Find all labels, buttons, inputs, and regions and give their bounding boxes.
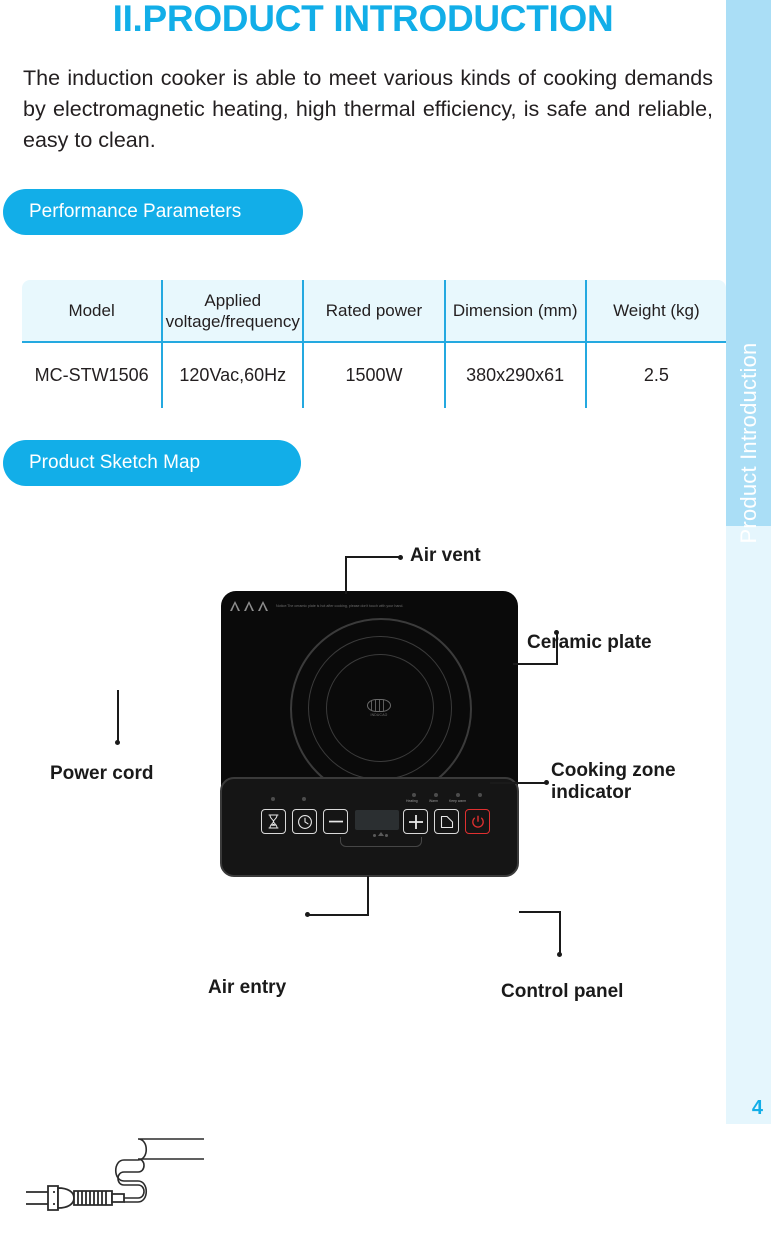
hourglass-glyph [267,814,280,829]
digital-display [355,810,399,830]
minus-button[interactable] [323,809,348,834]
cell-dimension: 380x290x61 [445,342,586,409]
leader-line-cooking-zone [490,782,547,784]
power-cord-illustration [14,1132,214,1242]
sidebar: Product Introduction 4 [726,0,771,1124]
callout-ceramic-plate: Ceramic plate [527,632,652,654]
leader-line-air-entry-horizontal [308,914,369,916]
leader-line-ceramic-horizontal [513,663,558,665]
leader-line-air-vent-horizontal [345,556,400,558]
power-glyph [471,815,485,829]
indicator-label-heating: Heating [406,799,418,803]
hourglass-icon[interactable] [261,809,286,834]
callout-air-vent: Air vent [410,545,481,567]
indicator-led [434,793,438,797]
slider-dot [385,834,388,837]
table-header-voltage: Applied voltage/frequency [162,279,303,342]
table-header-weight: Weight (kg) [586,279,727,342]
indicator-led [302,797,306,801]
warning-strip: Notice:The ceramic plate is hot after co… [230,599,480,613]
parameters-table: Model Applied voltage/frequency Rated po… [20,278,728,410]
leader-dot-air-vent [398,555,403,560]
power-icon[interactable] [465,809,490,834]
indicator-led [412,793,416,797]
indicator-led [271,797,275,801]
slider-caret-icon [378,832,384,836]
leader-dot-control-panel [557,952,562,957]
slider-dot [373,834,376,837]
indicator-led [478,793,482,797]
sidebar-section-label: Product Introduction [736,343,762,544]
callout-air-entry: Air entry [208,977,286,999]
page-number: 4 [752,1097,763,1120]
function-icon[interactable] [434,809,459,834]
induction-cooker-illustration: Notice:The ceramic plate is hot after co… [222,592,517,874]
table-header-dimension: Dimension (mm) [445,279,586,342]
leader-line-control-panel-horizontal [519,911,561,913]
power-slider[interactable] [340,837,422,847]
indicator-led [456,793,460,797]
cell-voltage: 120Vac,60Hz [162,342,303,409]
power-cord-drawing [14,1132,214,1242]
table-header-row: Model Applied voltage/frequency Rated po… [21,279,727,342]
leader-dot-cooking-zone [544,780,549,785]
section-heading-product-sketch-map: Product Sketch Map [3,440,301,486]
cell-model: MC-STW1506 [21,342,162,409]
cell-weight: 2.5 [586,342,727,409]
function-glyph [440,815,454,829]
page-title: II.PRODUCT INTRODUCTION [0,0,726,40]
warning-triangle-icon [244,601,255,611]
induction-coil-logo: INDUCAO [358,697,400,719]
callout-control-panel: Control panel [501,981,623,1003]
leader-line-air-vent-vertical [345,556,347,594]
warning-text: Notice:The ceramic plate is hot after co… [276,603,403,609]
plus-button[interactable] [403,809,428,834]
callout-cooking-zone-indicator: Cooking zone indicator [551,760,676,804]
indicator-label-warm: Warm [429,799,438,803]
table-header-rated-power: Rated power [303,279,444,342]
warning-triangle-icon [258,601,269,611]
callout-power-cord: Power cord [50,763,153,785]
leader-dot-air-entry [305,912,310,917]
section-heading-performance-parameters: Performance Parameters [3,189,303,235]
leader-line-air-entry-vertical [367,876,369,916]
coil-icon [367,699,391,712]
coil-logo-text: INDUCAO [370,713,387,717]
intro-paragraph: The induction cooker is able to meet var… [23,63,713,156]
leader-line-power-cord [117,690,119,742]
indicator-label-keep-warm: Keep warm [449,799,466,803]
cell-rated-power: 1500W [303,342,444,409]
minus-glyph [329,820,343,823]
clock-icon[interactable] [292,809,317,834]
table-row: MC-STW1506 120Vac,60Hz 1500W 380x290x61 … [21,342,727,409]
control-panel[interactable]: Heating Warm Keep warm [220,777,519,877]
clock-glyph [297,814,313,830]
warning-triangle-icon [230,601,241,611]
control-panel-inner: Heating Warm Keep warm [222,779,521,879]
leader-line-control-panel-vertical [559,911,561,954]
table-header-model: Model [21,279,162,342]
plus-glyph [409,815,423,829]
leader-dot-power-cord [115,740,120,745]
